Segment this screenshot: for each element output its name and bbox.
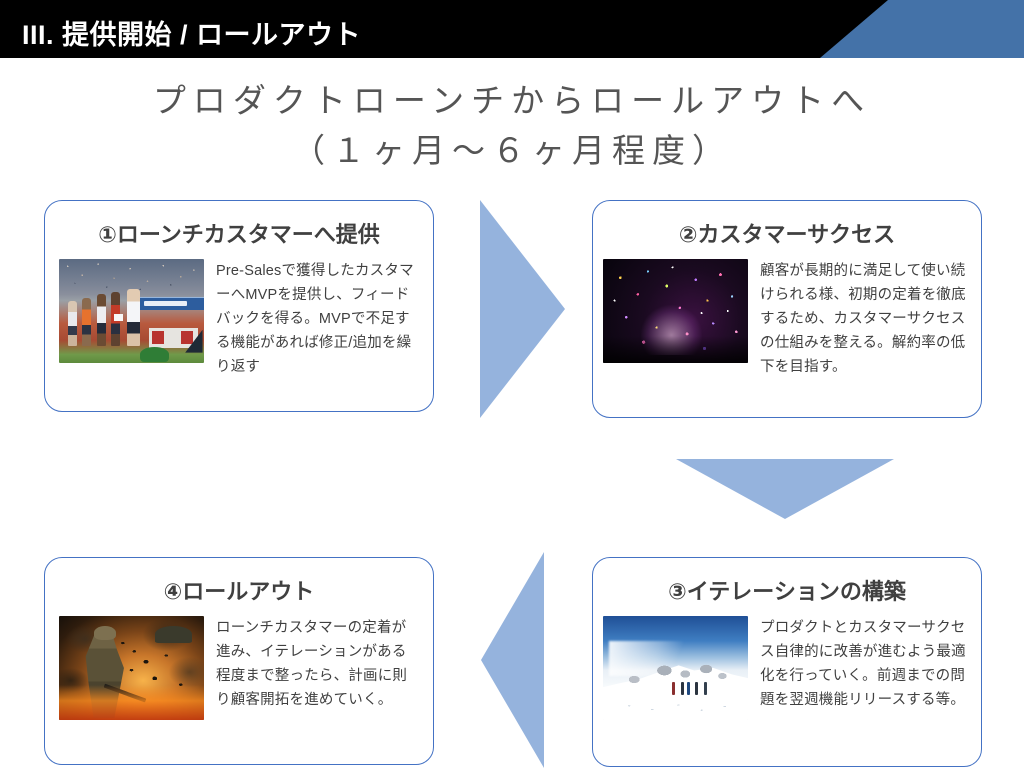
- arrow-down-card2-to-card3: [676, 459, 894, 519]
- step-card-1-body: Pre-Salesで獲得したカスタマーへMVPを提供し、フィードバックを得る。M…: [59, 259, 421, 379]
- step-card-4[interactable]: ④ロールアウト ローンチカスタマーの定着が進み、イテレーションがある程度まで整っ…: [44, 557, 434, 765]
- step-card-3[interactable]: ③イテレーションの構築 プロダクトとカスタマーサクセス自律的に改善が進むよう最適…: [592, 557, 982, 767]
- step-card-1-title: ①ローンチカスタマーへ提供: [45, 217, 433, 249]
- step-card-3-body: プロダクトとカスタマーサクセス自律的に改善が進むよう最適化を行っていく。前週まで…: [603, 616, 969, 720]
- header-title: III. 提供開始 / ロールアウト: [22, 13, 361, 52]
- step-card-2-text: 顧客が長期的に満足して使い続けられる様、初期の定着を徹底するため、カスタマーサク…: [760, 259, 969, 379]
- arrow-right-card1-to-card2: [480, 200, 565, 418]
- step-card-2-body: 顧客が長期的に満足して使い続けられる様、初期の定着を徹底するため、カスタマーサク…: [603, 259, 969, 379]
- step-card-4-title: ④ロールアウト: [45, 574, 433, 606]
- step-card-1-text: Pre-Salesで獲得したカスタマーへMVPを提供し、フィードバックを得る。M…: [216, 259, 421, 379]
- step-card-3-title: ③イテレーションの構築: [593, 574, 981, 606]
- confetti-celebration-photo: [603, 259, 748, 363]
- step-card-4-text: ローンチカスタマーの定着が進み、イテレーションがある程度まで整ったら、計画に則り…: [216, 616, 421, 712]
- step-card-2[interactable]: ②カスタマーサクセス 顧客が長期的に満足して使い続けられる様、初期の定着を徹底す…: [592, 200, 982, 418]
- step-card-3-text: プロダクトとカスタマーサクセス自律的に改善が進むよう最適化を行っていく。前週まで…: [760, 616, 969, 712]
- page-title-line2: （１ヶ月～６ヶ月程度）: [60, 126, 964, 176]
- step-card-2-title: ②カスタマーサクセス: [593, 217, 981, 249]
- snow-mountain-climbers-photo: [603, 616, 748, 720]
- arrow-left-card3-to-card4: [481, 552, 544, 768]
- page-title: プロダクトローンチからロールアウトへ （１ヶ月～６ヶ月程度）: [60, 76, 964, 176]
- step-card-4-body: ローンチカスタマーの定着が進み、イテレーションがある程度まで整ったら、計画に則り…: [59, 616, 421, 720]
- soldier-explosion-photo: [59, 616, 204, 720]
- track-race-photo: [59, 259, 204, 363]
- step-card-1[interactable]: ①ローンチカスタマーへ提供 Pre-Salesで獲得したカスタマーへMVPを提供…: [44, 200, 434, 412]
- page-title-line1: プロダクトローンチからロールアウトへ: [153, 82, 871, 119]
